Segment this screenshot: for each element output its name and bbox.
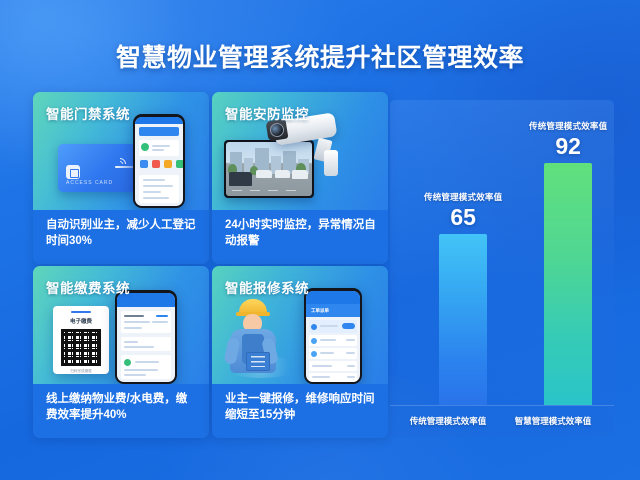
card-title-security: 智能安防监控 — [225, 103, 309, 123]
feature-card-payment[interactable]: 智能缴费系统 电子缴费 扫码完成缴费 — [33, 266, 209, 438]
bar-top-label-traditional: 传统管理模式效率值 — [424, 191, 502, 203]
qr-voucher: 电子缴费 扫码完成缴费 — [53, 306, 109, 374]
phone-mockup-access — [133, 114, 185, 208]
phone-screen-payment — [117, 293, 175, 382]
card-visual-repair: 智能报修系统 — [212, 266, 388, 384]
card-caption-access-control: 自动识别业主，减少人工登记时间30% — [33, 210, 209, 264]
card-caption-repair: 业主一键报修，维修响应时间缩短至15分钟 — [212, 384, 388, 438]
card-title-access-control: 智能门禁系统 — [46, 103, 130, 123]
feature-card-access-control[interactable]: 智能门禁系统 ACCESS CARD — [33, 92, 209, 264]
phone-mockup-payment — [115, 290, 177, 384]
bar-smart[interactable] — [544, 163, 592, 405]
clipboard-icon — [246, 352, 270, 371]
access-card-graphic: ACCESS CARD — [58, 144, 136, 192]
phone-screen-access — [135, 117, 183, 206]
bar-value-traditional: 65 — [450, 204, 476, 230]
camera-wall-plate — [324, 150, 338, 176]
phone-status-bar — [135, 117, 183, 124]
chart-plot-area: 传统管理模式效率值 65 传统管理模式效率值 92 — [390, 100, 614, 405]
street-view-feed — [226, 142, 312, 196]
feature-card-grid: 智能门禁系统 ACCESS CARD — [33, 92, 385, 437]
bar-column-traditional[interactable]: 传统管理模式效率值 65 — [424, 100, 502, 405]
slide-canvas: 智慧物业管理系统提升社区管理效率 智能门禁系统 ACCESS CARD — [0, 0, 640, 480]
card-visual-payment: 智能缴费系统 电子缴费 扫码完成缴费 — [33, 266, 209, 384]
card-caption-payment: 线上缴纳物业费/水电费，缴费效率提升40% — [33, 384, 209, 438]
voucher-subtitle: 扫码完成缴费 — [70, 369, 92, 374]
card-visual-access-control: 智能门禁系统 ACCESS CARD — [33, 92, 209, 210]
bar-value-smart: 92 — [555, 133, 581, 159]
phone-mockup-repair: 工单派单 — [304, 288, 362, 384]
bar-traditional[interactable] — [439, 234, 487, 405]
bar-column-smart[interactable]: 传统管理模式效率值 92 — [529, 100, 607, 405]
tablet-monitor — [224, 140, 314, 198]
axis-label-smart: 智慧管理模式效率值 — [515, 415, 592, 427]
phone-header-label: 工单派单 — [311, 308, 329, 314]
phone-screen-repair: 工单派单 — [306, 291, 360, 382]
card-title-payment: 智能缴费系统 — [46, 277, 130, 297]
axis-label-traditional: 传统管理模式效率值 — [410, 415, 487, 427]
voucher-tab — [71, 311, 91, 313]
qr-code-image — [61, 329, 101, 366]
feature-card-repair[interactable]: 智能报修系统 — [212, 266, 388, 438]
page-title: 智慧物业管理系统提升社区管理效率 — [0, 38, 640, 74]
card-title-repair: 智能报修系统 — [225, 277, 309, 297]
bar-top-label-smart: 传统管理模式效率值 — [529, 120, 607, 132]
card-caption-security: 24小时实时监控，异常情况自动报警 — [212, 210, 388, 264]
card-visual-security: 智能安防监控 — [212, 92, 388, 210]
card-embossed-text: ACCESS CARD — [66, 180, 113, 186]
phone-app-header-repair — [306, 291, 360, 304]
voucher-title: 电子缴费 — [70, 317, 92, 325]
feature-card-security[interactable]: 智能安防监控 — [212, 92, 388, 264]
card-chip-icon — [66, 165, 80, 179]
chart-x-axis: 传统管理模式效率值 智慧管理模式效率值 — [390, 405, 614, 437]
efficiency-bar-chart: 传统管理模式效率值 65 传统管理模式效率值 92 传统管理模式效率值 智慧管理… — [390, 100, 614, 437]
